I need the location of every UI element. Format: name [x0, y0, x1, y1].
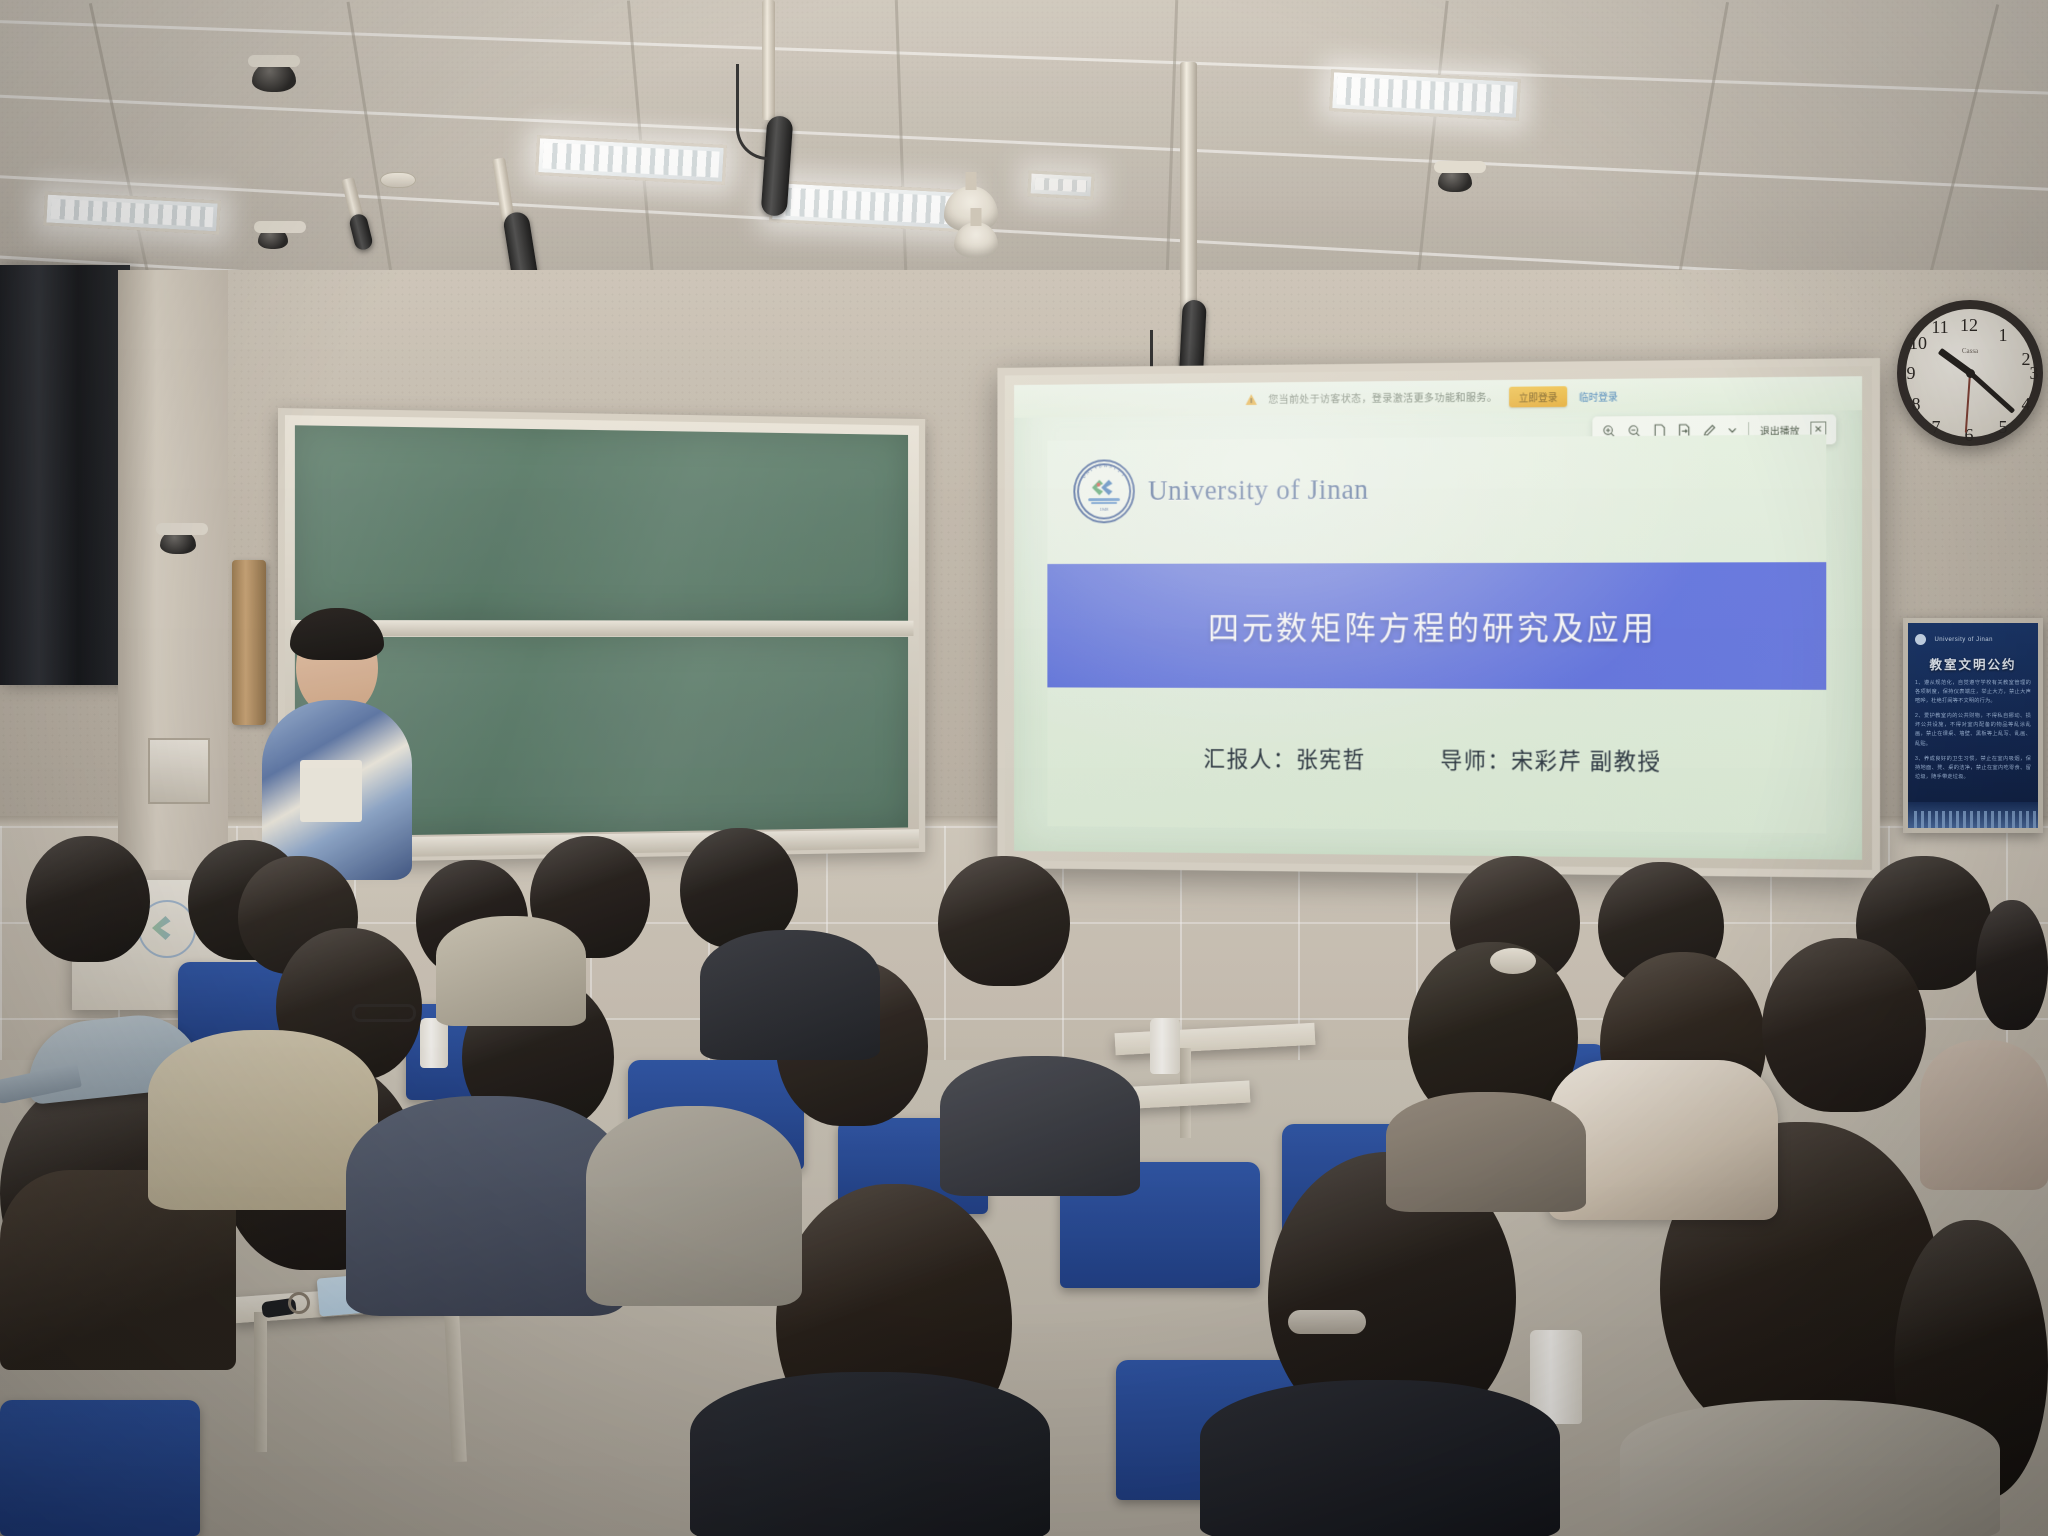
advisor-name: 导师：宋彩芹 副教授: [1440, 747, 1661, 774]
projection-screen[interactable]: × 您当前处于访客状态，登录激活更多功能和服务。 立即登录 临时登录: [1014, 376, 1862, 860]
clock-numeral: 4: [2016, 394, 2036, 415]
poster-seal-icon: [1915, 634, 1926, 645]
classroom-convention-poster: University of Jinan 教室文明公约 1、遵从规范化，自觉遵守学…: [1903, 618, 2043, 833]
presentation-slide: U N I V E R S I T Y: [1047, 434, 1826, 833]
temporary-login-link[interactable]: 临时登录: [1579, 388, 1618, 403]
slide-title-band: 四元数矩阵方程的研究及应用: [1047, 562, 1826, 690]
clock-brand: Cassa: [1962, 347, 1978, 355]
presenter-sweater-block: [300, 760, 362, 822]
slide-title: 四元数矩阵方程的研究及应用: [1208, 602, 1657, 650]
desk-leg: [254, 1312, 267, 1452]
poster-footer-graphic: [1908, 802, 2038, 828]
seal-year: 1948: [1100, 507, 1108, 512]
wooden-wall-slat: [232, 560, 266, 725]
chair-back: [0, 1400, 200, 1536]
audience-head: [1762, 938, 1926, 1112]
seal-emblem-icon: [1090, 477, 1118, 498]
presenter-name: 汇报人：张宪哲: [1203, 746, 1365, 772]
window-curtain: [0, 265, 130, 685]
clock-second-hand: [1965, 373, 1971, 433]
ceiling-camera-icon: [1438, 168, 1472, 192]
ceiling: [0, 0, 2048, 300]
audience-torso: [436, 916, 586, 1026]
clock-numeral: 12: [1959, 315, 1979, 336]
clock-numeral: 6: [1959, 425, 1979, 446]
water-bottle: [1150, 1018, 1180, 1074]
wall-camera-icon: [160, 530, 196, 554]
ceiling-camera-icon: [258, 228, 288, 249]
university-name: University of Jinan: [1148, 474, 1369, 507]
hair-clip: [1490, 948, 1536, 974]
blackboard-panel-upper: [295, 425, 908, 620]
login-now-button[interactable]: 立即登录: [1509, 386, 1567, 407]
audience-torso: [940, 1056, 1140, 1196]
university-seal-icon: U N I V E R S I T Y: [1073, 459, 1134, 523]
clock-numeral: 5: [1993, 417, 2013, 438]
ceiling-light-panel: [1027, 170, 1094, 199]
electrical-box: [148, 738, 210, 804]
clock-numeral: 9: [1901, 363, 1921, 384]
audience-torso: [148, 1030, 378, 1210]
slide-header: U N I V E R S I T Y: [1073, 458, 1368, 524]
clock-numeral: 11: [1930, 317, 1950, 338]
seal-base-line: [1088, 498, 1120, 501]
ceiling-camera-icon: [252, 62, 296, 92]
audience-torso: [700, 930, 880, 1060]
audience-torso: [1920, 1040, 2048, 1190]
clock-numeral: 8: [1906, 394, 1926, 415]
poster-university-mark: University of Jinan: [1915, 631, 2031, 649]
clock-numeral: 1: [1993, 325, 2013, 346]
ceiling-tile-grid: [0, 0, 2048, 300]
poster-line: 2、爱护教室内的公共财物，不得私自挪动、损坏公共设施，不得对室内配备的物品等乱涂…: [1915, 712, 2031, 748]
wall-clock: Cassa 12 1 2 3 4 5 6 7 8 9 10 11: [1897, 300, 2043, 446]
blackboard-rail: [291, 620, 914, 636]
clock-minute-hand: [1968, 371, 2014, 414]
audience-head: [938, 856, 1070, 986]
hair-tie: [1288, 1310, 1366, 1334]
guest-notice-bar: 您当前处于访客状态，登录激活更多功能和服务。 立即登录 临时登录: [1014, 376, 1862, 418]
eyeglasses-icon: [352, 1004, 416, 1022]
audience-torso: [346, 1096, 626, 1316]
chevron-down-icon[interactable]: [1727, 425, 1737, 435]
guest-notice-text: 您当前处于访客状态，登录激活更多功能和服务。: [1268, 389, 1497, 406]
audience-torso: [690, 1372, 1050, 1536]
audience-torso: [1620, 1400, 2000, 1536]
poster-title: 教室文明公约: [1915, 654, 2031, 673]
projection-screen-frame: × 您当前处于访客状态，登录激活更多功能和服务。 立即登录 临时登录: [997, 358, 1880, 878]
seal-base-line: [1091, 502, 1117, 504]
audience-torso: [1200, 1380, 1560, 1536]
audience-head: [1976, 900, 2048, 1030]
lecture-hall-photo: University of Jinan 教室文明公约 1、遵从规范化，自觉遵守学…: [0, 0, 2048, 1536]
water-bottle: [420, 1018, 448, 1068]
smoke-detector-icon: [380, 172, 416, 188]
warning-triangle-icon: [1246, 394, 1257, 405]
poster-university-name: University of Jinan: [1934, 637, 1993, 643]
poster-line: 3、养成良好的卫生习惯，禁止在室内吸烟，保持地面、凳、桌的洁净，禁止在室内吃零食…: [1915, 755, 2031, 782]
audience-head: [26, 836, 150, 962]
mic-cable: [736, 64, 768, 160]
audience-torso: [1386, 1092, 1586, 1212]
clock-numeral: 3: [2024, 363, 2044, 384]
clock-numeral: 7: [1926, 417, 1946, 438]
slide-byline: 汇报人：张宪哲 导师：宋彩芹 副教授: [1047, 739, 1826, 777]
clock-center-pin: [1966, 369, 1975, 378]
poster-line: 1、遵从规范化，自觉遵守学校有关教室管理的各项制度，保持仪表端庄，举止大方，禁止…: [1915, 679, 2031, 706]
clock-numeral: 10: [1908, 333, 1928, 354]
audience-torso: [586, 1106, 802, 1306]
